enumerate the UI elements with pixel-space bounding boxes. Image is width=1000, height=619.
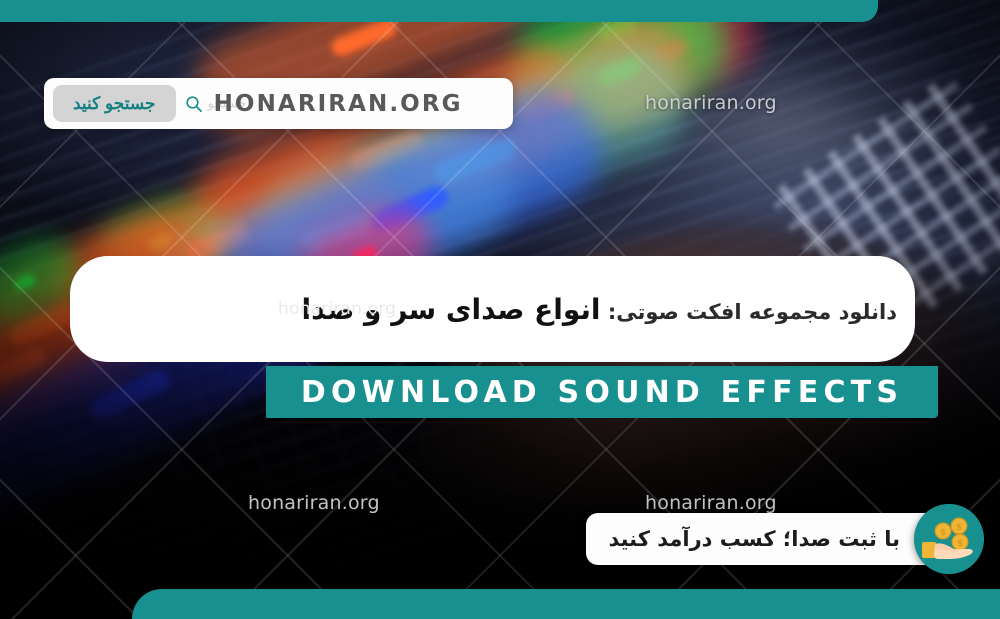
- monetize-cta-label: با ثبت صدا؛ کسب درآمد کنید: [608, 527, 900, 551]
- search-bar[interactable]: جستجو کنید جستجو HONARIRAN.ORG: [44, 78, 513, 129]
- svg-text:$: $: [956, 523, 962, 533]
- svg-text:$: $: [957, 539, 963, 549]
- title-prefix: دانلود مجموعه افکت صوتی:: [608, 300, 897, 324]
- monetize-cta[interactable]: $ $ $ با ثبت صدا؛ کسب درآمد کنید: [586, 513, 984, 565]
- search-icon: [184, 94, 204, 114]
- hand-holding-coins-icon: $ $ $: [914, 504, 984, 574]
- headline-banner: DOWNLOAD SOUND EFFECTS: [266, 366, 938, 418]
- search-input[interactable]: HONARIRAN.ORG: [208, 91, 504, 117]
- page-title: دانلود مجموعه افکت صوتی: انواع صدای سر و…: [301, 293, 897, 326]
- search-submit-button[interactable]: جستجو کنید: [53, 85, 176, 122]
- bottom-accent-bar: [132, 589, 1000, 619]
- banner-stage: honariran.org honariran.org honariran.or…: [0, 0, 1000, 619]
- title-card: honariran.org دانلود مجموعه افکت صوتی: ا…: [70, 256, 915, 362]
- top-accent-bar: [0, 0, 878, 22]
- search-field[interactable]: جستجو HONARIRAN.ORG: [176, 85, 504, 122]
- title-accent: انواع صدای سر و صدا: [301, 293, 600, 326]
- svg-text:$: $: [940, 528, 946, 538]
- headline-text: DOWNLOAD SOUND EFFECTS: [301, 375, 903, 410]
- monetize-cta-pill[interactable]: با ثبت صدا؛ کسب درآمد کنید: [586, 513, 960, 565]
